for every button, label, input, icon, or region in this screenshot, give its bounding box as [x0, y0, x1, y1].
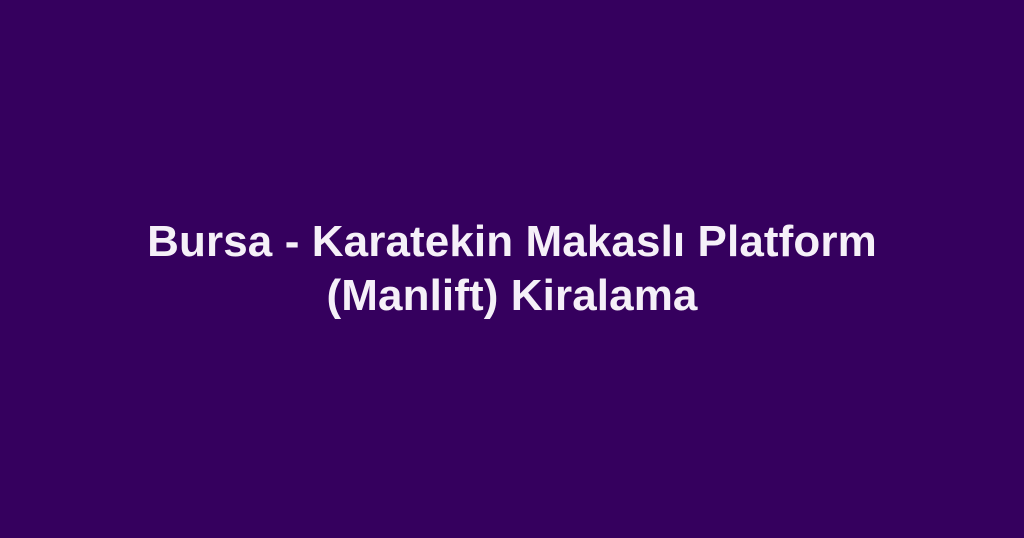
share-card: Bursa - Karatekin Makaslı Platform (Manl…: [0, 0, 1024, 538]
page-title: Bursa - Karatekin Makaslı Platform (Manl…: [117, 215, 907, 323]
title-block: Bursa - Karatekin Makaslı Platform (Manl…: [117, 215, 907, 323]
